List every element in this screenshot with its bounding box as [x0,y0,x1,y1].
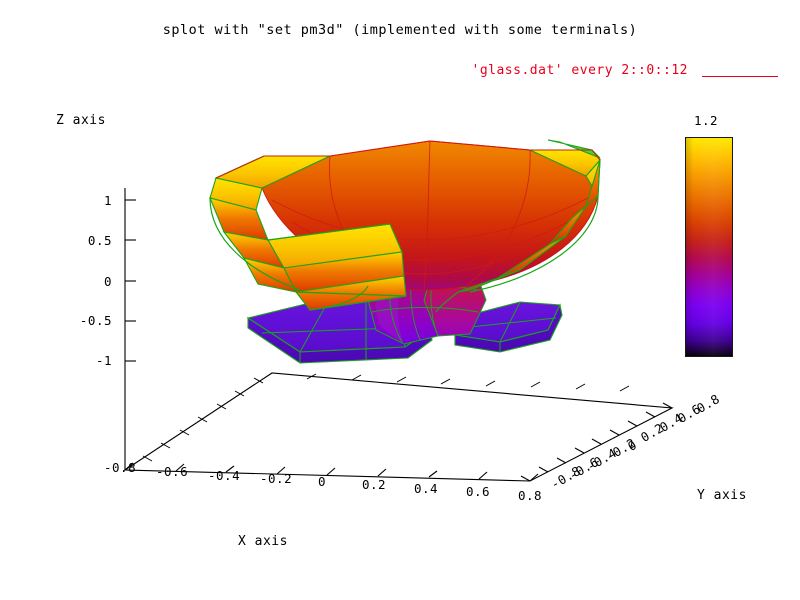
plot-3d-scene [0,0,800,600]
glass-surface [210,140,600,363]
y-axis-ticks [521,403,672,481]
gnuplot-canvas: splot with "set pm3d" (implemented with … [0,0,800,600]
z-axis-ticks [125,200,136,361]
plot-box-back-ticks [143,374,629,461]
